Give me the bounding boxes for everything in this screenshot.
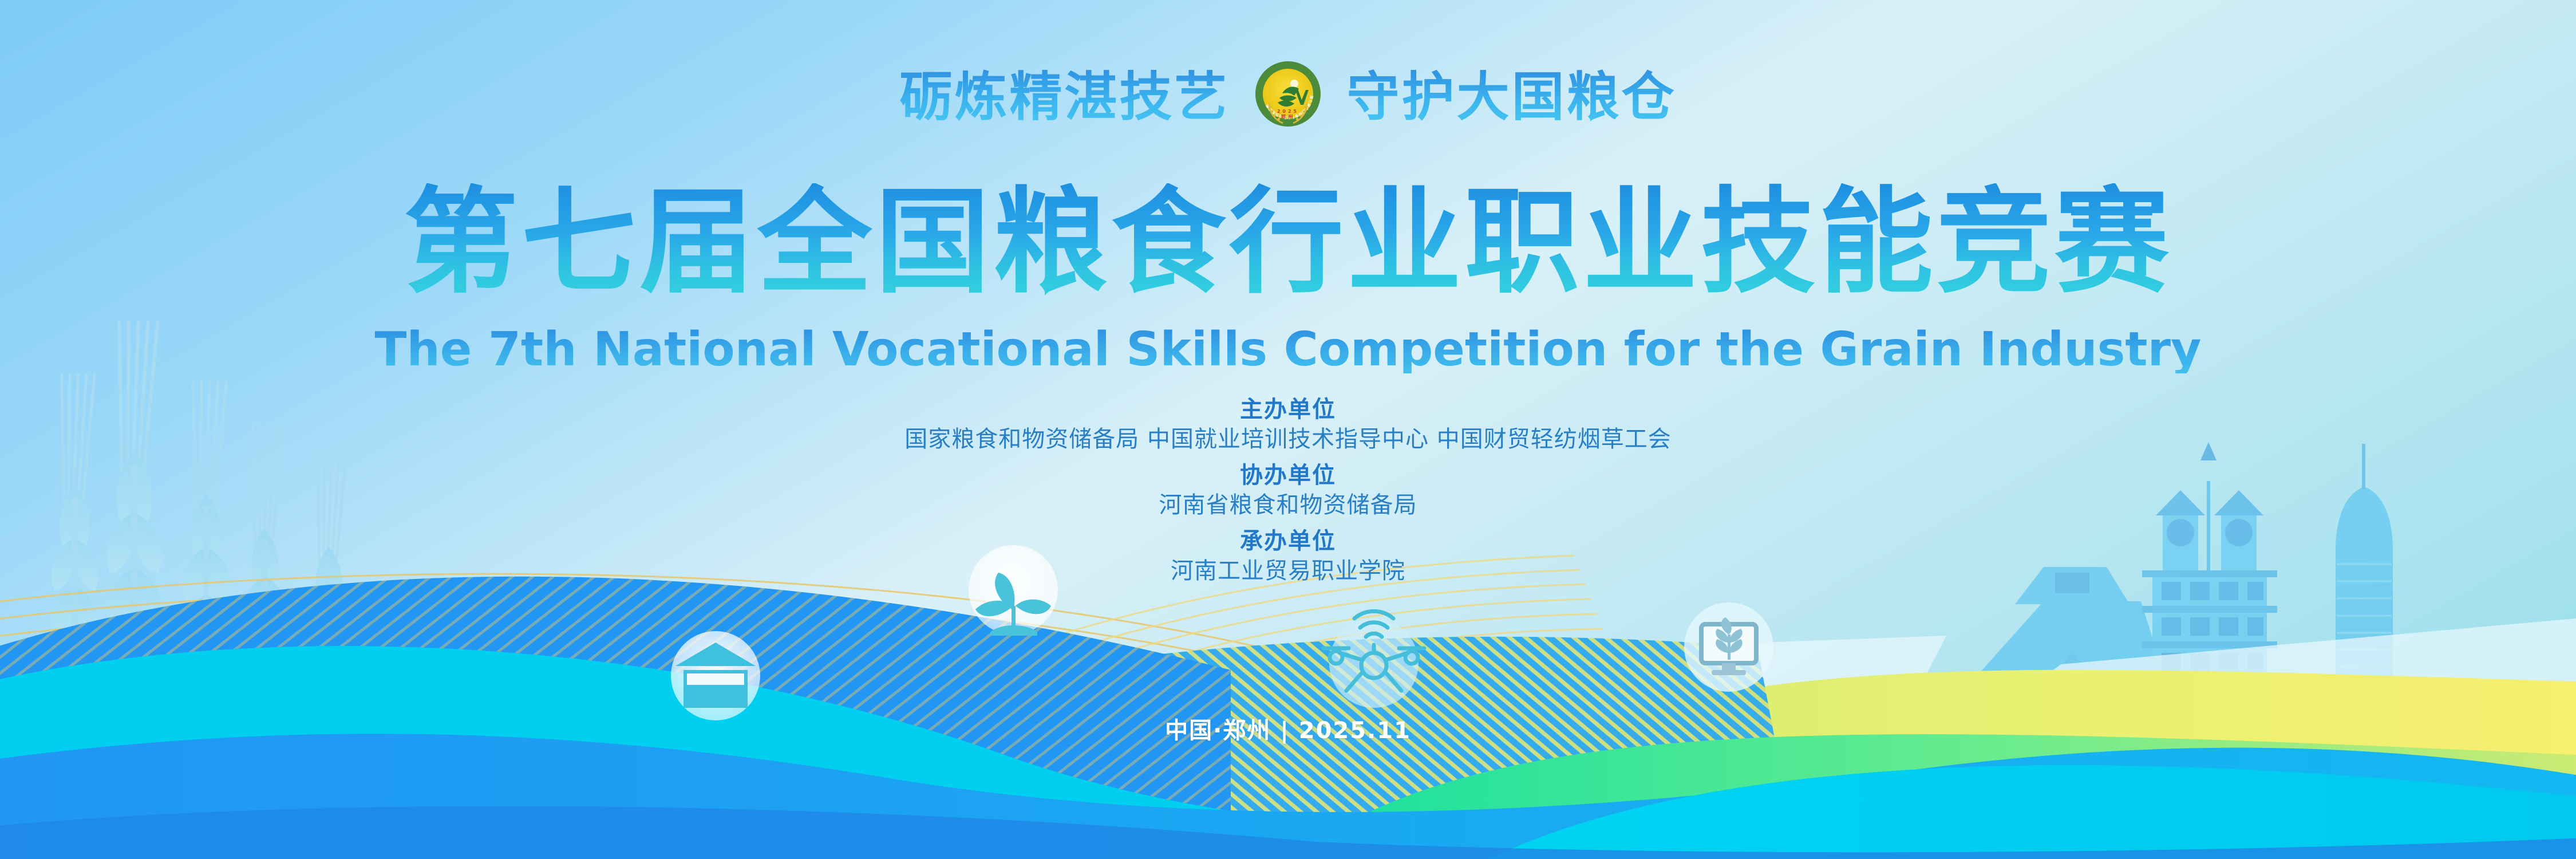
organizer-block: 主办单位 国家粮食和物资储备局 中国就业培训技术指导中心 中国财贸轻纺烟草工会 … [0,395,2576,586]
organizer-names-host: 国家粮食和物资储备局 中国就业培训技术指导中心 中国财贸轻纺烟草工会 [0,424,2576,455]
emblem-city: 郑州 [1281,113,1295,120]
organizer-names-undertaker: 河南工业贸易职业学院 [0,556,2576,587]
emblem-year: 2025 [1277,109,1299,114]
organizer-heading-host: 主办单位 [0,395,2576,424]
organizer-names-coorg: 河南省粮食和物资储备局 [0,490,2576,521]
date-location-label: 中国·郑州 | 2025.11 [0,712,2576,745]
page-subtitle-en: The 7th National Vocational Skills Compe… [0,326,2576,373]
slogan-left-text: 砺炼精湛技艺 [899,66,1229,128]
page-title: 第七届全国粮食行业职业技能竞赛 [0,183,2576,302]
slogan-line: 砺炼精湛技艺 第七届全国粮食行业职业技能竞赛 [0,60,2576,128]
slogan-right-text: 守护大国粮仓 [1347,66,1677,128]
competition-emblem: 第七届全国粮食行业职业技能竞赛 2025 郑州 [1254,60,1322,128]
organizer-heading-undertaker: 承办单位 [0,527,2576,556]
organizer-heading-coorg: 协办单位 [0,461,2576,490]
event-banner: 砺炼精湛技艺 第七届全国粮食行业职业技能竞赛 [0,0,2576,859]
